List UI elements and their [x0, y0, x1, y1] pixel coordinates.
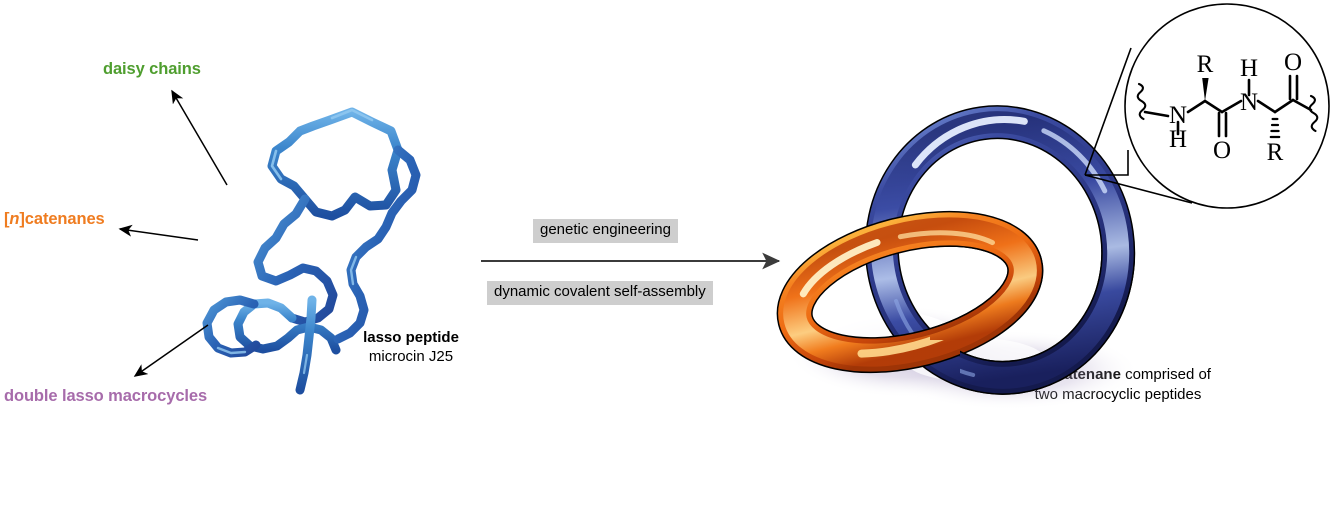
atom-label-H-amide: H	[1240, 55, 1258, 82]
figure-canvas: R N H O H N O R daisy chains [n]catenane…	[0, 0, 1337, 505]
peptide-bond-callout	[1085, 4, 1329, 208]
atom-label-O2: O	[1284, 49, 1302, 76]
squiggle-left	[1138, 84, 1146, 119]
atom-label-R2: R	[1267, 139, 1284, 166]
atom-label-N-amide: N	[1240, 89, 1258, 116]
lines-layer: R N H O H N O R	[0, 0, 1337, 505]
stereo-wedge	[1202, 78, 1208, 101]
atom-label-O1: O	[1213, 137, 1231, 164]
atom-label-R1: R	[1197, 51, 1214, 78]
atom-label-H-left: H	[1169, 126, 1187, 153]
arrow-to-double-lasso	[135, 325, 208, 376]
callout-anchor-bracket	[1085, 150, 1128, 175]
atom-label-N-left: N	[1169, 102, 1187, 129]
squiggle-right	[1310, 96, 1318, 131]
peptide-backbone-structure	[1138, 76, 1318, 137]
callout-connector-lower	[1085, 175, 1192, 203]
callout-circle	[1125, 4, 1329, 208]
pathway-arrows	[120, 91, 227, 376]
arrow-to-n-catenanes	[120, 229, 198, 240]
callout-connector-upper	[1085, 48, 1131, 175]
arrow-to-daisy-chains	[172, 91, 227, 185]
stereo-hash	[1271, 119, 1279, 137]
